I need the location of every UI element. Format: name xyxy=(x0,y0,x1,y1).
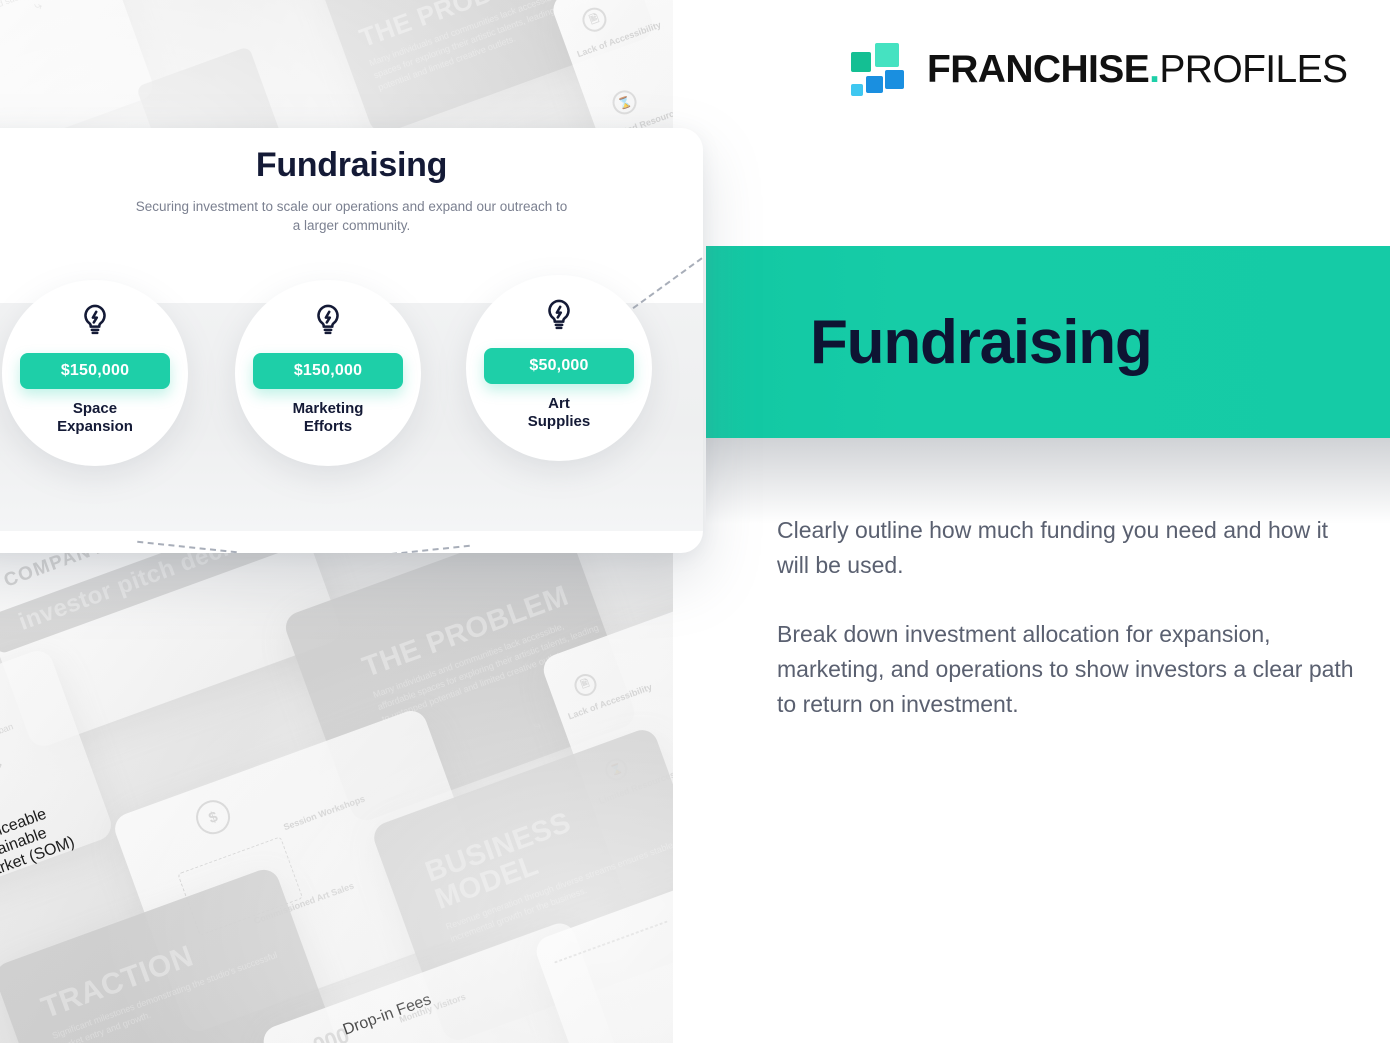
section-banner: Fundraising xyxy=(706,246,1390,438)
brand-name-bold: FRANCHISE xyxy=(927,48,1149,91)
description-block: Clearly outline how much funding you nee… xyxy=(777,513,1357,722)
lightbulb-bolt-icon xyxy=(541,297,577,338)
node-amount: $50,000 xyxy=(484,348,634,384)
slide-preview-title: Fundraising xyxy=(0,128,703,185)
squares-logo-mark-icon xyxy=(849,40,907,98)
fundraising-node-space-expansion[interactable]: $150,000 Space Expansion xyxy=(2,280,188,466)
curved-arrow-icon: ⤷ xyxy=(531,716,543,734)
description-paragraph-1: Clearly outline how much funding you nee… xyxy=(777,513,1357,583)
lightbulb-bolt-icon xyxy=(310,302,346,343)
node-amount: $150,000 xyxy=(253,353,403,389)
brand-logo[interactable]: FRANCHISE.PROFILES xyxy=(849,40,1347,98)
document-icon: 🖹 xyxy=(571,671,599,699)
node-label: Marketing Efforts xyxy=(293,400,364,437)
curved-arrow-icon: ⤷ xyxy=(0,756,4,774)
document-icon: 🖹 xyxy=(579,4,610,35)
brand-wordmark: FRANCHISE.PROFILES xyxy=(927,50,1347,89)
hourglass-icon: ⌛ xyxy=(609,87,640,118)
fundraising-node-marketing-efforts[interactable]: $150,000 Marketing Efforts xyxy=(235,280,421,466)
page-title: Fundraising xyxy=(810,307,1152,378)
brand-name-dot: . xyxy=(1149,48,1159,91)
description-paragraph-2: Break down investment allocation for exp… xyxy=(777,617,1357,722)
fundraising-node-art-supplies[interactable]: $50,000 Art Supplies xyxy=(466,275,652,461)
node-label: Space Expansion xyxy=(57,400,133,437)
dollar-icon: $ xyxy=(191,795,235,839)
deck-slide-body: Demand for creative spaces in urban and … xyxy=(0,0,109,78)
right-content-column: FRANCHISE.PROFILES Fundraising Clearly o… xyxy=(673,0,1390,1043)
node-label: Art Supplies xyxy=(528,395,591,432)
slide-preview-subtitle: Securing investment to scale our operati… xyxy=(132,197,572,235)
node-amount: $150,000 xyxy=(20,353,170,389)
slide-canvas: MARKET Demand for creative spaces in urb… xyxy=(0,0,1390,1043)
lightbulb-bolt-icon xyxy=(77,302,113,343)
brand-name-thin: PROFILES xyxy=(1159,48,1347,91)
